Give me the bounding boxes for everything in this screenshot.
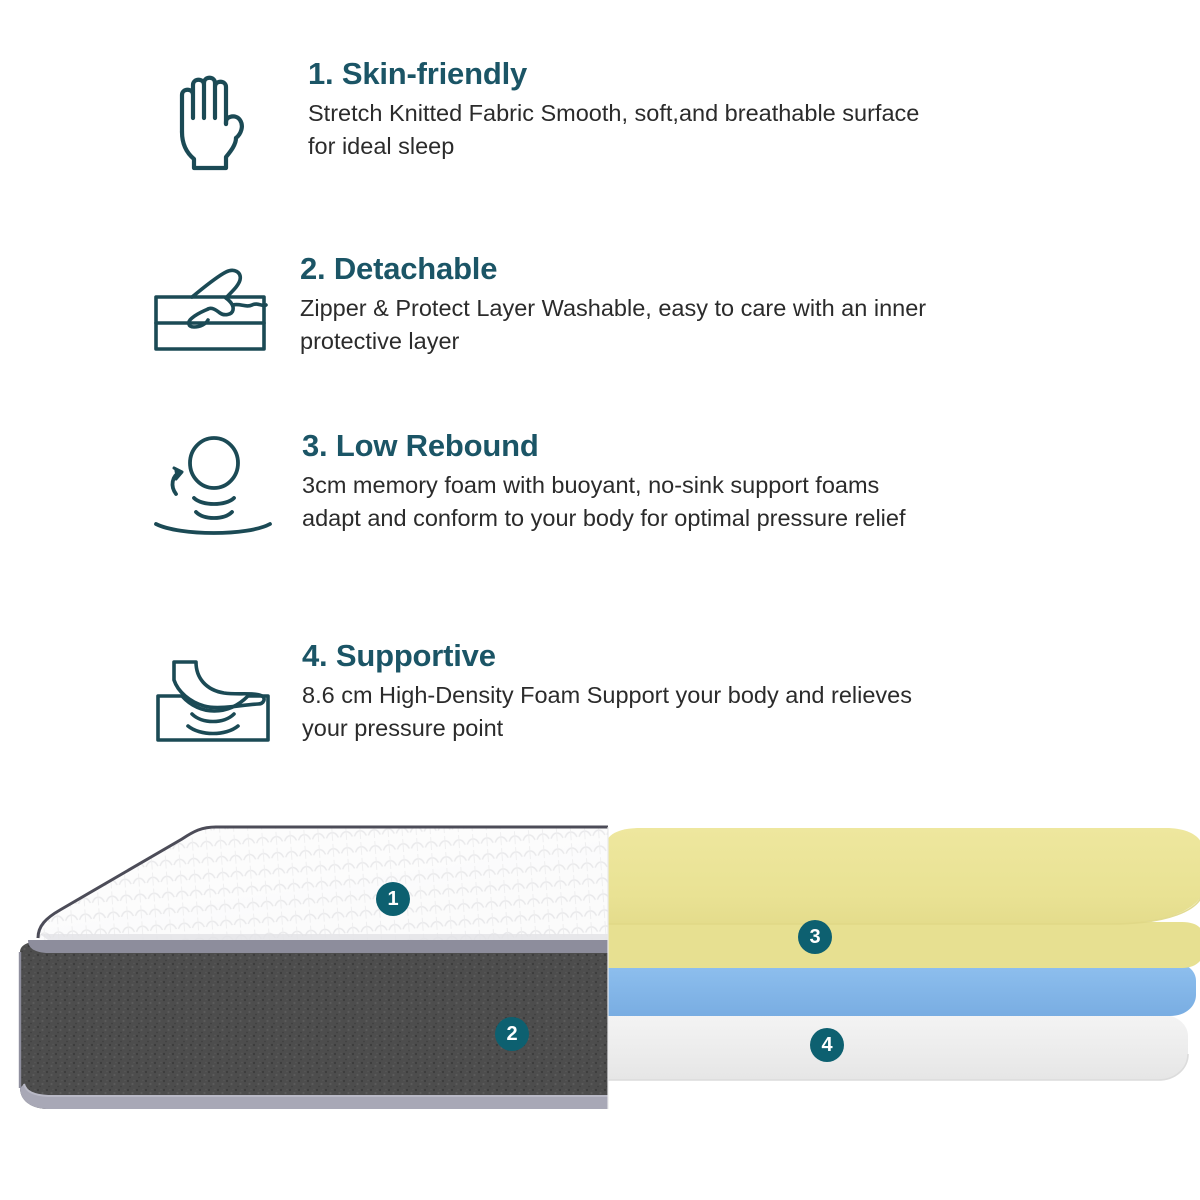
feature-item-skin-friendly: 1. Skin-friendly Stretch Knitted Fabric … xyxy=(0,58,1200,172)
feature-description: 3cm memory foam with buoyant, no-sink su… xyxy=(302,469,942,536)
hand-icon xyxy=(0,58,298,172)
callout-label: 2 xyxy=(506,1023,517,1045)
feature-text-block: 4. Supportive 8.6 cm High-Density Foam S… xyxy=(292,640,1200,745)
feature-item-detachable: 2. Detachable Zipper & Protect Layer Was… xyxy=(0,253,1200,359)
feature-description: Stretch Knitted Fabric Smooth, soft,and … xyxy=(308,97,948,164)
memory-foam-layer xyxy=(605,828,1200,968)
callout-label: 3 xyxy=(809,926,820,948)
feature-text-block: 3. Low Rebound 3cm memory foam with buoy… xyxy=(292,430,1200,535)
feature-description: Zipper & Protect Layer Washable, easy to… xyxy=(300,292,940,359)
feature-title: 4. Supportive xyxy=(302,640,1200,673)
feature-description: 8.6 cm High-Density Foam Support your bo… xyxy=(302,679,942,746)
callout-badge-4[interactable]: 4 xyxy=(810,1028,844,1062)
feature-item-low-rebound: 3. Low Rebound 3cm memory foam with buoy… xyxy=(0,430,1200,538)
callout-badge-2[interactable]: 2 xyxy=(495,1017,529,1051)
feature-title: 3. Low Rebound xyxy=(302,430,1200,463)
feature-item-supportive: 4. Supportive 8.6 cm High-Density Foam S… xyxy=(0,640,1200,746)
feature-text-block: 2. Detachable Zipper & Protect Layer Was… xyxy=(290,253,1200,358)
feature-title: 1. Skin-friendly xyxy=(308,58,1200,91)
callout-label: 4 xyxy=(821,1034,833,1056)
feature-text-block: 1. Skin-friendly Stretch Knitted Fabric … xyxy=(298,58,1200,163)
product-image: 1 2 3 4 xyxy=(0,800,1200,1200)
feature-title: 2. Detachable xyxy=(300,253,1200,286)
knitted-cover-top xyxy=(28,827,608,953)
hand-support-icon xyxy=(0,640,292,746)
callout-label: 1 xyxy=(387,888,398,910)
callout-badge-1[interactable]: 1 xyxy=(376,882,410,916)
feature-list: 1. Skin-friendly Stretch Knitted Fabric … xyxy=(0,0,1200,800)
transition-layer xyxy=(605,962,1196,1016)
bouncing-ball-icon xyxy=(0,430,292,538)
base-support-foam-layer xyxy=(605,1014,1188,1080)
callout-badge-3[interactable]: 3 xyxy=(798,920,832,954)
peel-layer-icon xyxy=(0,253,290,359)
